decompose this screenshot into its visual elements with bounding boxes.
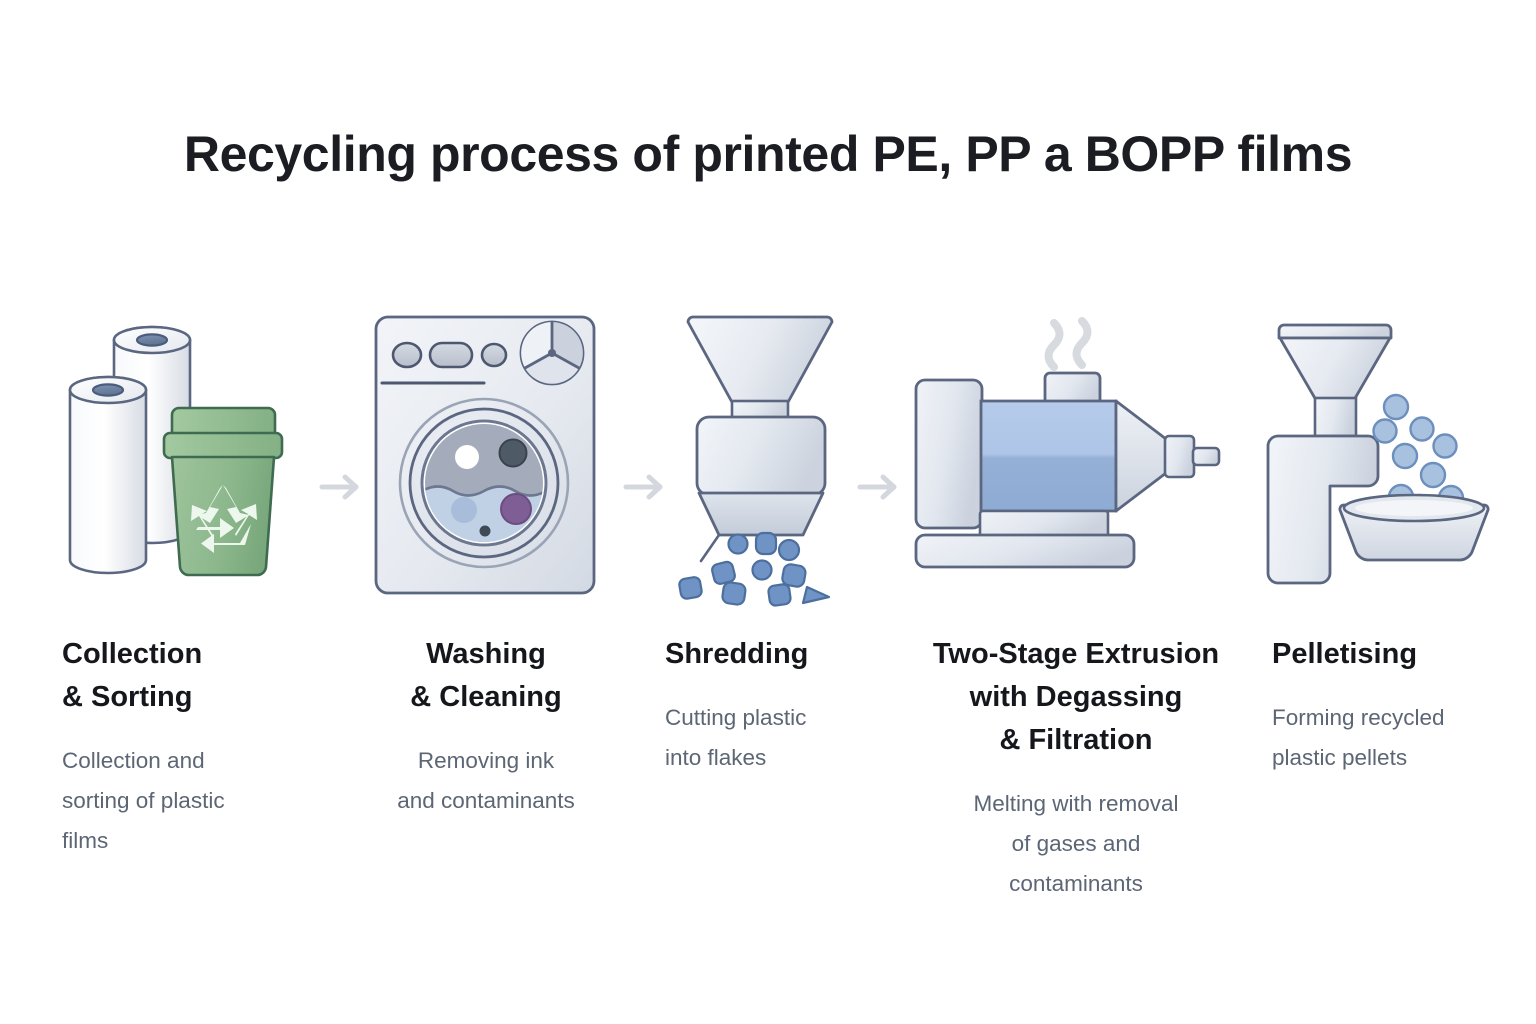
step-title: Collection & Sorting xyxy=(62,633,312,719)
collection-bowl xyxy=(1340,495,1488,560)
film-roll-front xyxy=(70,377,146,573)
process-step-washing-cleaning: Washing & Cleaning Removing ink and cont… xyxy=(360,300,612,1000)
flow-arrow-2 xyxy=(622,472,670,502)
particle-purple xyxy=(501,494,531,524)
bin-body xyxy=(172,457,274,575)
drive-block xyxy=(916,380,982,528)
roll-core xyxy=(137,334,167,345)
outlet-chute xyxy=(701,535,719,561)
step-illustration xyxy=(62,300,312,605)
shredder-outlet xyxy=(699,493,823,535)
step-illustration xyxy=(1272,300,1514,605)
step-title: Shredding xyxy=(665,633,870,676)
step-description: Melting with removal of gases and contam… xyxy=(900,784,1252,904)
step-title: Two-Stage Extrusion with Degassing & Fil… xyxy=(900,633,1252,762)
process-step-collection-sorting: Collection & Sorting Collection and sort… xyxy=(62,300,312,1000)
step-title: Pelletising xyxy=(1272,633,1514,676)
flow-arrow-1 xyxy=(318,472,366,502)
process-step-pelletising: Pelletising Forming recycled plastic pel… xyxy=(1272,300,1514,1000)
funnel-rim xyxy=(1279,325,1391,338)
machine-door xyxy=(400,399,568,567)
particle-white xyxy=(455,445,479,469)
support-shelf xyxy=(980,511,1108,537)
button-pill-icon xyxy=(430,343,472,367)
step-description: Collection and sorting of plastic films xyxy=(62,741,312,861)
dial-icon xyxy=(521,322,583,384)
particle-lightblue xyxy=(451,497,477,523)
knob-right-icon xyxy=(482,344,506,366)
film-rolls-and-recycling-bin-icon xyxy=(62,305,314,605)
process-step-shredding: Shredding Cutting plastic into flakes xyxy=(665,300,870,1000)
washing-machine-icon xyxy=(370,305,602,605)
extruder-barrel xyxy=(981,401,1116,511)
die-nozzle xyxy=(1193,448,1219,465)
flow-arrow-3 xyxy=(856,472,904,502)
particle-dark xyxy=(500,440,527,467)
page-title: Recycling process of printed PE, PP a BO… xyxy=(0,126,1536,184)
funnel-neck xyxy=(1315,398,1356,436)
pelletiser-icon xyxy=(1272,305,1512,605)
die-head xyxy=(1165,436,1194,477)
funnel-cone xyxy=(1280,338,1390,400)
step-description: Removing ink and contaminants xyxy=(360,741,612,821)
step-description: Cutting plastic into flakes xyxy=(665,698,870,778)
bin-lid-band xyxy=(164,433,282,458)
infographic-page: Recycling process of printed PE, PP a BO… xyxy=(0,0,1536,1024)
recycling-bin xyxy=(164,408,282,575)
extruder-cone xyxy=(1116,401,1166,511)
process-flow: Collection & Sorting Collection and sort… xyxy=(0,300,1536,1000)
step-title: Washing & Cleaning xyxy=(360,633,612,719)
process-step-two-stage-extrusion: Two-Stage Extrusion with Degassing & Fil… xyxy=(900,300,1252,1000)
arrow-right-icon xyxy=(318,472,366,502)
arrow-right-icon xyxy=(622,472,670,502)
extruder-icon xyxy=(902,305,1250,605)
steam-icon xyxy=(1049,321,1088,367)
step-description: Forming recycled plastic pellets xyxy=(1272,698,1514,778)
arrow-right-icon xyxy=(856,472,904,502)
plastic-flakes xyxy=(678,533,829,606)
shredder-body xyxy=(697,417,825,495)
particle-small-dark xyxy=(480,526,491,537)
step-illustration xyxy=(360,300,612,605)
roll-core xyxy=(93,384,123,395)
hopper xyxy=(688,317,832,404)
base-plate xyxy=(916,535,1134,567)
knob-left-icon xyxy=(393,343,421,367)
step-illustration xyxy=(900,300,1252,605)
step-illustration xyxy=(665,300,870,605)
shredder-icon xyxy=(665,305,865,605)
